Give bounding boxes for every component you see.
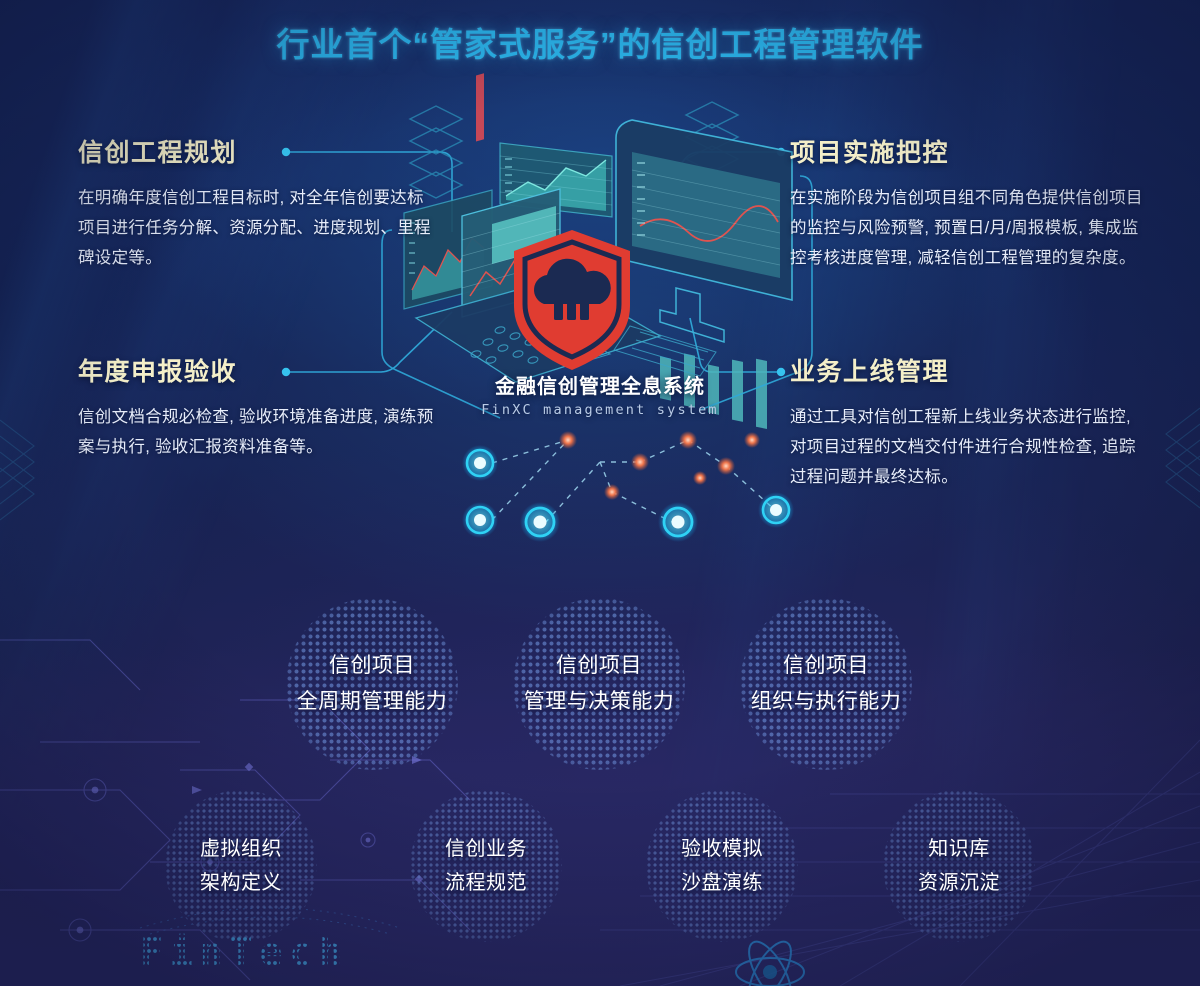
feature-body-plan: 在明确年度信创工程目标时, 对全年信创要达标项目进行任务分解、资源分配、进度规划… <box>78 183 434 273</box>
network-orange-dots <box>559 431 760 500</box>
feature-heading-exec: 项目实施把控 <box>790 133 1146 169</box>
feature-body-exec: 在实施阶段为信创项目组不同角色提供信创项目的监控与风险预警, 预置日/月/周报模… <box>790 183 1146 273</box>
page-title: 行业首个“管家式服务”的信创工程管理软件 <box>0 18 1200 66</box>
module-label-4: 知识库 资源沉淀 <box>918 832 1000 900</box>
module-label-2: 信创业务 流程规范 <box>445 832 527 900</box>
module-sphere-4: 知识库 资源沉淀 <box>883 790 1035 942</box>
capability-label-2: 信创项目 管理与决策能力 <box>524 648 675 720</box>
atom-icon <box>736 936 804 986</box>
feature-block-plan: 信创工程规划 在明确年度信创工程目标时, 对全年信创要达标项目进行任务分解、资源… <box>78 133 434 273</box>
chevron-pattern-right <box>1166 408 1200 508</box>
module-sphere-3: 验收模拟 沙盘演练 <box>646 790 798 942</box>
module-label-3: 验收模拟 沙盘演练 <box>681 832 763 900</box>
network-cyan-nodes <box>462 445 794 542</box>
system-name-cn: 金融信创管理全息系统 <box>0 370 1200 399</box>
capability-sphere-2: 信创项目 管理与决策能力 <box>513 598 685 770</box>
system-name-block: 金融信创管理全息系统 FinXC management system <box>0 370 1200 418</box>
capability-sphere-1: 信创项目 全周期管理能力 <box>286 598 458 770</box>
fintech-watermark: FinTech <box>140 930 349 974</box>
node-network <box>462 431 794 542</box>
feature-block-exec: 项目实施把控 在实施阶段为信创项目组不同角色提供信创项目的监控与风险预警, 预置… <box>790 133 1146 273</box>
capability-label-3: 信创项目 组织与执行能力 <box>751 648 902 720</box>
system-name-en: FinXC management system <box>0 402 1200 418</box>
module-label-1: 虚拟组织 架构定义 <box>200 832 282 900</box>
feature-heading-plan: 信创工程规划 <box>78 133 434 169</box>
capability-sphere-3: 信创项目 组织与执行能力 <box>740 598 912 770</box>
chevron-pattern-left <box>0 420 34 520</box>
capability-label-1: 信创项目 全周期管理能力 <box>297 648 448 720</box>
module-sphere-1: 虚拟组织 架构定义 <box>165 790 317 942</box>
infographic-canvas: 行业首个“管家式服务”的信创工程管理软件 信创工程规划 在明确年度信创工程目标时… <box>0 0 1200 986</box>
module-sphere-2: 信创业务 流程规范 <box>410 790 562 942</box>
